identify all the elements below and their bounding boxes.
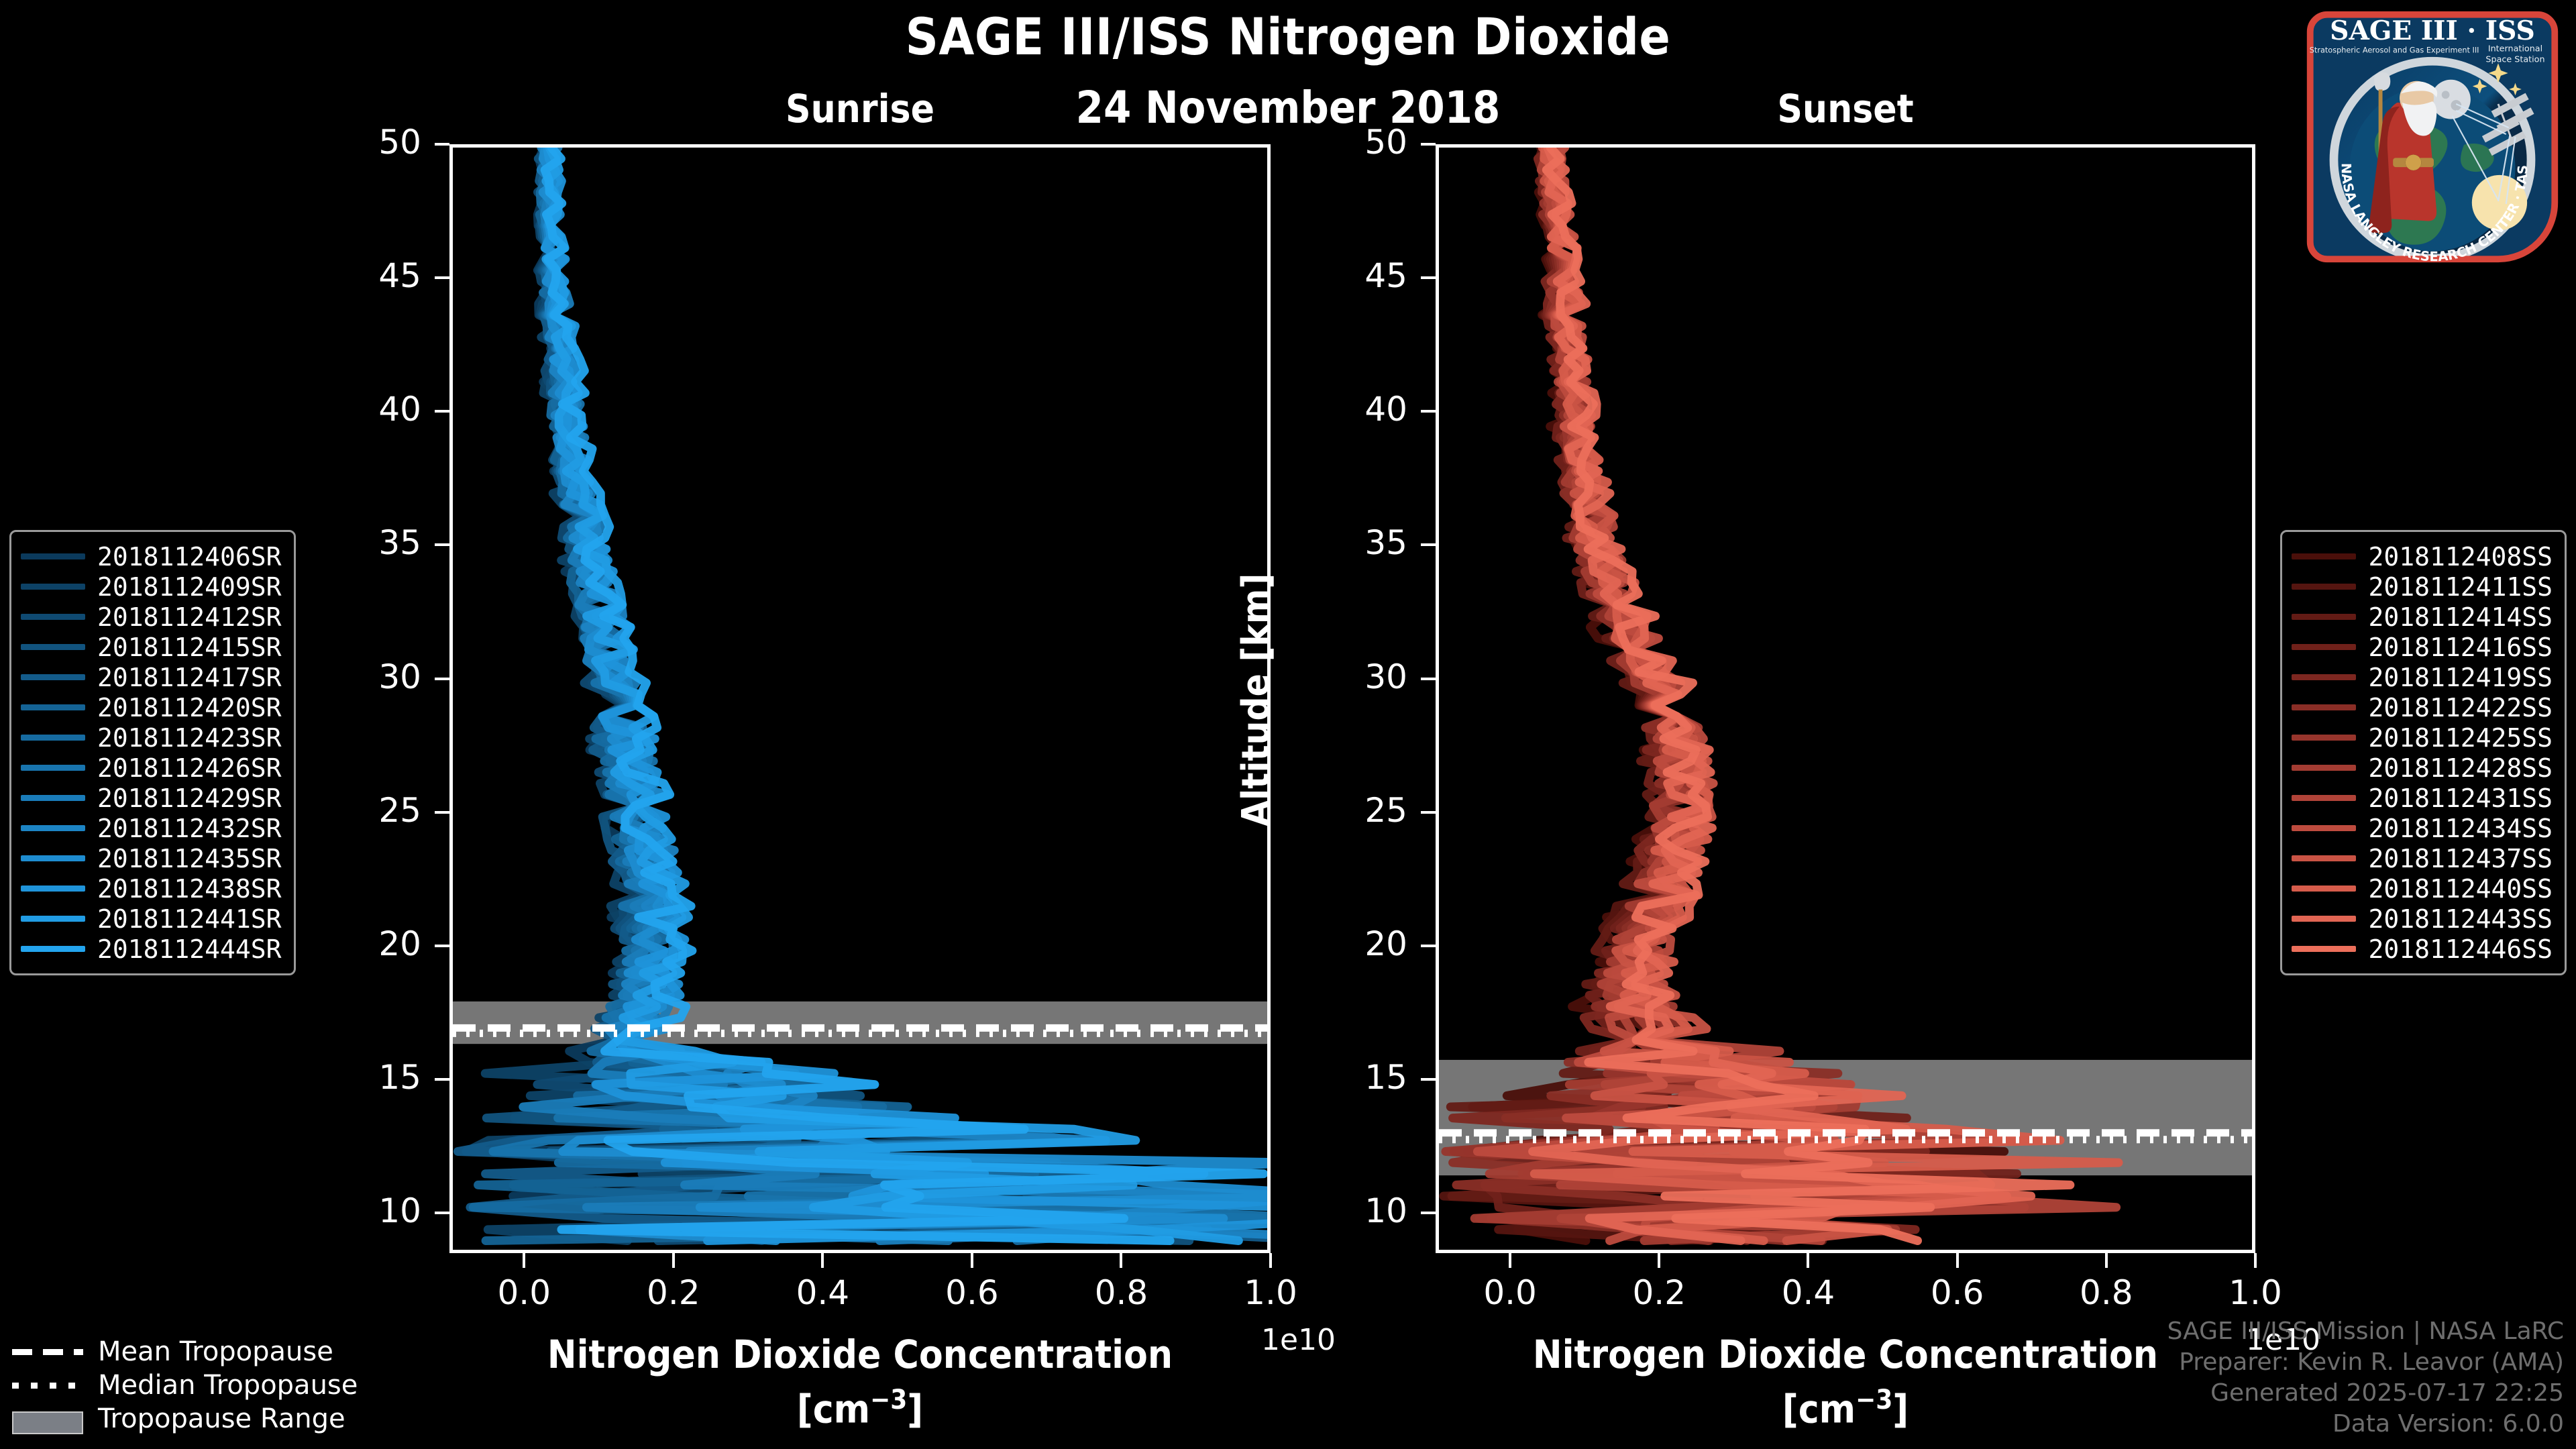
legend-color-swatch (2292, 916, 2356, 922)
legend-item: 2018112435SR (21, 843, 282, 873)
legend-color-swatch (2292, 855, 2356, 861)
legend-color-swatch (2292, 795, 2356, 801)
y-axis-tick (435, 678, 449, 680)
y-axis-tick (435, 143, 449, 146)
credit-line-version: Data Version: 6.0.0 (2167, 1409, 2564, 1440)
legend-item: 2018112441SR (21, 904, 282, 934)
shaded-band-icon (12, 1411, 83, 1426)
patch-subtitle-left: Stratospheric Aerosol and Gas Experiment… (2310, 46, 2479, 55)
y-axis-tick-label: 30 (301, 657, 421, 696)
legend-color-swatch (21, 855, 85, 861)
x-axis-offset-text: 1e10 (1261, 1323, 1336, 1357)
sunrise-tropopause-band (453, 1002, 1267, 1044)
x-axis-tick (971, 1253, 973, 1268)
x-axis-label-units: [cm−3] (1409, 1385, 2282, 1432)
legend-item: 2018112438SR (21, 873, 282, 904)
sunrise-profiles-svg (453, 148, 1267, 1250)
y-axis-tick (1421, 1078, 1436, 1081)
x-axis-label: Nitrogen Dioxide Concentration (1409, 1332, 2282, 1377)
x-axis-tick (821, 1253, 824, 1268)
legend-item: 2018112419SS (2292, 662, 2553, 692)
credit-line-mission: SAGE III/ISS Mission | NASA LaRC (2167, 1316, 2564, 1347)
legend-item-tropopause-range: Tropopause Range (12, 1402, 358, 1436)
legend-item: 2018112444SR (21, 934, 282, 964)
legend-event-label: 2018112438SR (97, 874, 282, 904)
legend-event-label: 2018112425SS (2368, 723, 2553, 753)
legend-item: 2018112417SR (21, 662, 282, 692)
x-axis-tick-label: 0.8 (2046, 1273, 2167, 1312)
x-axis-tick (2254, 1253, 2257, 1268)
legend-event-label: 2018112415SR (97, 633, 282, 662)
legend-event-label: 2018112423SR (97, 723, 282, 753)
y-axis-tick-label: 35 (301, 523, 421, 562)
y-axis-tick-label: 50 (1287, 123, 1407, 162)
credit-line-generated: Generated 2025-07-17 22:25 (2167, 1378, 2564, 1409)
y-axis-tick (435, 276, 449, 279)
x-axis-tick-label: 0.2 (613, 1273, 734, 1312)
legend-event-label: 2018112426SR (97, 753, 282, 783)
legend-color-swatch (21, 885, 85, 892)
legend-event-label: 2018112435SR (97, 844, 282, 873)
dotted-line-icon (12, 1378, 83, 1393)
x-axis-tick (1956, 1253, 1959, 1268)
legend-event-label: 2018112434SS (2368, 814, 2553, 843)
legend-event-label: 2018112419SS (2368, 663, 2553, 692)
credits-block: SAGE III/ISS Mission | NASA LaRC Prepare… (2167, 1316, 2564, 1440)
x-axis-tick (523, 1253, 525, 1268)
legend-color-swatch (2292, 946, 2356, 952)
legend-color-swatch (2292, 674, 2356, 680)
y-axis-tick-label: 45 (301, 256, 421, 295)
y-axis-tick (1421, 678, 1436, 680)
patch-subtitle-right-1: International (2488, 44, 2542, 54)
y-axis-tick (1421, 276, 1436, 279)
sunrise-plot-area (449, 144, 1271, 1253)
x-axis-tick-label: 1.0 (1210, 1273, 1331, 1312)
x-axis-tick (1807, 1253, 1809, 1268)
legend-event-label: 2018112420SR (97, 693, 282, 722)
y-axis-tick-label: 25 (1287, 791, 1407, 830)
patch-title: SAGE III · ISS (2330, 15, 2535, 46)
patch-subtitle-right-2: Space Station (2485, 54, 2544, 64)
y-axis-tick (1421, 811, 1436, 814)
y-axis-tick-label: 50 (301, 123, 421, 162)
y-axis-tick (1421, 543, 1436, 546)
legend-event-label: 2018112422SS (2368, 693, 2553, 722)
legend-item: 2018112440SS (2292, 873, 2553, 904)
legend-color-swatch (21, 946, 85, 952)
sunset-panel-title: Sunset (1436, 86, 2255, 131)
legend-item: 2018112420SR (21, 692, 282, 722)
x-axis-tick (672, 1253, 675, 1268)
y-axis-tick-label: 15 (1287, 1058, 1407, 1097)
legend-color-swatch (21, 553, 85, 559)
y-axis-tick-label: 25 (301, 791, 421, 830)
y-axis-label: Altitude [km] (1234, 573, 1278, 826)
legend-event-label: 2018112443SS (2368, 904, 2553, 934)
y-axis-tick (1421, 1212, 1436, 1214)
y-axis-tick (435, 410, 449, 413)
legend-item: 2018112416SS (2292, 632, 2553, 662)
legend-color-swatch (2292, 584, 2356, 590)
legend-color-swatch (21, 704, 85, 710)
y-axis-tick (435, 1078, 449, 1081)
legend-item-mean-tropopause: Mean Tropopause (12, 1335, 358, 1368)
x-axis-tick (1120, 1253, 1122, 1268)
legend-event-label: 2018112429SR (97, 784, 282, 813)
x-axis-tick (1658, 1253, 1660, 1268)
legend-label-mean: Mean Tropopause (98, 1336, 333, 1367)
legend-label-range: Tropopause Range (98, 1403, 345, 1434)
legend-event-label: 2018112417SR (97, 663, 282, 692)
legend-item: 2018112422SS (2292, 692, 2553, 722)
legend-color-swatch (21, 644, 85, 650)
legend-event-label: 2018112416SS (2368, 633, 2553, 662)
credit-line-preparer: Preparer: Kevin R. Leavor (AMA) (2167, 1347, 2564, 1378)
legend-color-swatch (2292, 825, 2356, 831)
legend-event-label: 2018112412SR (97, 602, 282, 632)
legend-event-label: 2018112441SR (97, 904, 282, 934)
x-axis-tick-label: 0.6 (1897, 1273, 2018, 1312)
y-axis-tick-label: 20 (1287, 924, 1407, 963)
legend-color-swatch (21, 735, 85, 741)
legend-item: 2018112446SS (2292, 934, 2553, 964)
legend-event-label: 2018112411SS (2368, 572, 2553, 602)
legend-item-median-tropopause: Median Tropopause (12, 1368, 358, 1402)
legend-item: 2018112406SR (21, 541, 282, 572)
y-axis-tick (435, 811, 449, 814)
legend-event-label: 2018112446SS (2368, 934, 2553, 964)
y-axis-tick-label: 30 (1287, 657, 1407, 696)
x-axis-tick-label: 0.2 (1599, 1273, 1719, 1312)
legend-event-label: 2018112437SS (2368, 844, 2553, 873)
legend-color-swatch (2292, 614, 2356, 620)
y-axis-tick (435, 543, 449, 546)
legend-event-label: 2018112444SR (97, 934, 282, 964)
legend-color-swatch (2292, 553, 2356, 559)
y-axis-tick (1421, 945, 1436, 947)
sunset-plot-clip (1439, 148, 2252, 1250)
y-axis-tick-label: 40 (1287, 390, 1407, 429)
legend-color-swatch (21, 916, 85, 922)
x-axis-tick-label: 0.0 (1450, 1273, 1570, 1312)
y-axis-tick-label: 15 (301, 1058, 421, 1097)
legend-item: 2018112415SR (21, 632, 282, 662)
x-axis-tick (2105, 1253, 2108, 1268)
legend-color-swatch (2292, 885, 2356, 892)
y-axis-tick-label: 10 (1287, 1191, 1407, 1230)
legend-color-swatch (21, 584, 85, 590)
x-axis-tick-label: 0.0 (464, 1273, 584, 1312)
legend-item: 2018112443SS (2292, 904, 2553, 934)
legend-item: 2018112412SR (21, 602, 282, 632)
y-axis-tick (1421, 410, 1436, 413)
legend-item: 2018112408SS (2292, 541, 2553, 572)
sunrise-event-legend: 2018112406SR2018112409SR2018112412SR2018… (9, 530, 296, 975)
legend-event-label: 2018112406SR (97, 542, 282, 572)
legend-color-swatch (21, 825, 85, 831)
legend-item: 2018112431SS (2292, 783, 2553, 813)
x-axis-label: Nitrogen Dioxide Concentration (423, 1332, 1297, 1377)
legend-color-swatch (2292, 704, 2356, 710)
dashed-line-icon (12, 1344, 83, 1359)
legend-item: 2018112434SS (2292, 813, 2553, 843)
legend-color-swatch (21, 795, 85, 801)
legend-item: 2018112423SR (21, 722, 282, 753)
x-axis-tick-label: 1.0 (2195, 1273, 2316, 1312)
sage-mission-patch-logo: SAGE III · ISS Stratospheric Aerosol and… (2301, 5, 2564, 268)
legend-color-swatch (2292, 735, 2356, 741)
y-axis-tick-label: 20 (301, 924, 421, 963)
y-axis-tick-label: 40 (301, 390, 421, 429)
legend-event-label: 2018112409SR (97, 572, 282, 602)
legend-label-median: Median Tropopause (98, 1370, 358, 1401)
y-axis-tick-label: 45 (1287, 256, 1407, 295)
y-axis-tick (435, 1212, 449, 1214)
sunrise-panel-title: Sunrise (449, 86, 1271, 131)
x-axis-tick (1509, 1253, 1511, 1268)
sunset-profiles-svg (1439, 148, 2252, 1250)
legend-color-swatch (21, 614, 85, 620)
y-axis-tick (1421, 143, 1436, 146)
tropopause-range-rect (453, 1002, 1267, 1044)
x-axis-tick-label: 0.8 (1061, 1273, 1181, 1312)
y-axis-tick-label: 10 (301, 1191, 421, 1230)
legend-color-swatch (2292, 765, 2356, 771)
legend-item: 2018112432SR (21, 813, 282, 843)
tropopause-legend: Mean Tropopause Median Tropopause Tropop… (12, 1335, 358, 1436)
legend-item: 2018112428SS (2292, 753, 2553, 783)
legend-event-label: 2018112431SS (2368, 784, 2553, 813)
legend-event-label: 2018112440SS (2368, 874, 2553, 904)
legend-item: 2018112409SR (21, 572, 282, 602)
legend-event-label: 2018112428SS (2368, 753, 2553, 783)
x-axis-tick-label: 0.4 (1748, 1273, 1868, 1312)
legend-item: 2018112411SS (2292, 572, 2553, 602)
x-axis-tick (1269, 1253, 1272, 1268)
x-axis-tick-label: 0.4 (762, 1273, 883, 1312)
y-axis-tick-label: 35 (1287, 523, 1407, 562)
x-axis-tick-label: 0.6 (912, 1273, 1032, 1312)
legend-item: 2018112429SR (21, 783, 282, 813)
legend-item: 2018112425SS (2292, 722, 2553, 753)
legend-item: 2018112426SR (21, 753, 282, 783)
legend-event-label: 2018112432SR (97, 814, 282, 843)
legend-color-swatch (21, 765, 85, 771)
legend-color-swatch (21, 674, 85, 680)
legend-color-swatch (2292, 644, 2356, 650)
sunrise-profile-lines (458, 148, 1267, 1241)
legend-item: 2018112414SS (2292, 602, 2553, 632)
legend-event-label: 2018112414SS (2368, 602, 2553, 632)
legend-event-label: 2018112408SS (2368, 542, 2553, 572)
y-axis-tick (435, 945, 449, 947)
sunrise-plot-clip (453, 148, 1267, 1250)
x-axis-label-units: [cm−3] (423, 1385, 1297, 1432)
legend-item: 2018112437SS (2292, 843, 2553, 873)
page-title: SAGE III/ISS Nitrogen Dioxide (0, 7, 2576, 66)
sunset-event-legend: 2018112408SS2018112411SS2018112414SS2018… (2280, 530, 2567, 975)
sunset-plot-area (1436, 144, 2255, 1253)
